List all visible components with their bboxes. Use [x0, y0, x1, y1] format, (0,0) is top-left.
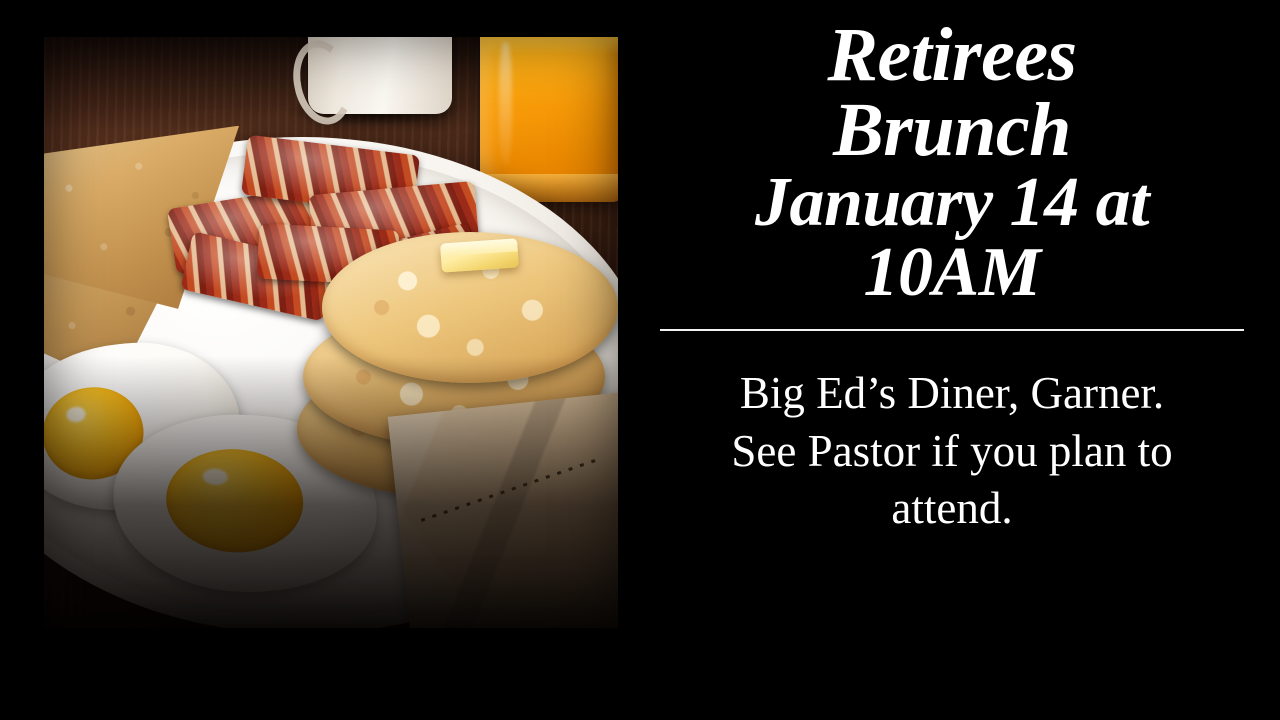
event-details: Big Ed’s Diner, Garner. See Pastor if yo… — [652, 365, 1252, 538]
headline-line-2: Brunch — [648, 93, 1256, 168]
headline-line-3: January 14 at — [648, 168, 1256, 237]
table-bottom-shadow — [44, 356, 618, 628]
orange-juice-glass-icon — [480, 37, 618, 202]
details-line-1: Big Ed’s Diner, Garner. — [740, 368, 1164, 418]
butter-pat-icon — [440, 238, 519, 272]
photo-scene — [44, 37, 618, 628]
glass-highlight — [499, 42, 512, 167]
slide-canvas: Retirees Brunch January 14 at 10AM Big E… — [0, 0, 1280, 720]
details-line-3: attend. — [891, 483, 1012, 533]
headline-line-1: Retirees — [648, 18, 1256, 93]
text-column: Retirees Brunch January 14 at 10AM Big E… — [648, 0, 1256, 720]
breakfast-photo — [44, 37, 618, 628]
details-line-2: See Pastor if you plan to — [731, 426, 1172, 476]
headline-line-4: 10AM — [648, 238, 1256, 307]
page-title: Retirees Brunch January 14 at 10AM — [648, 18, 1256, 307]
horizontal-divider — [660, 329, 1244, 331]
